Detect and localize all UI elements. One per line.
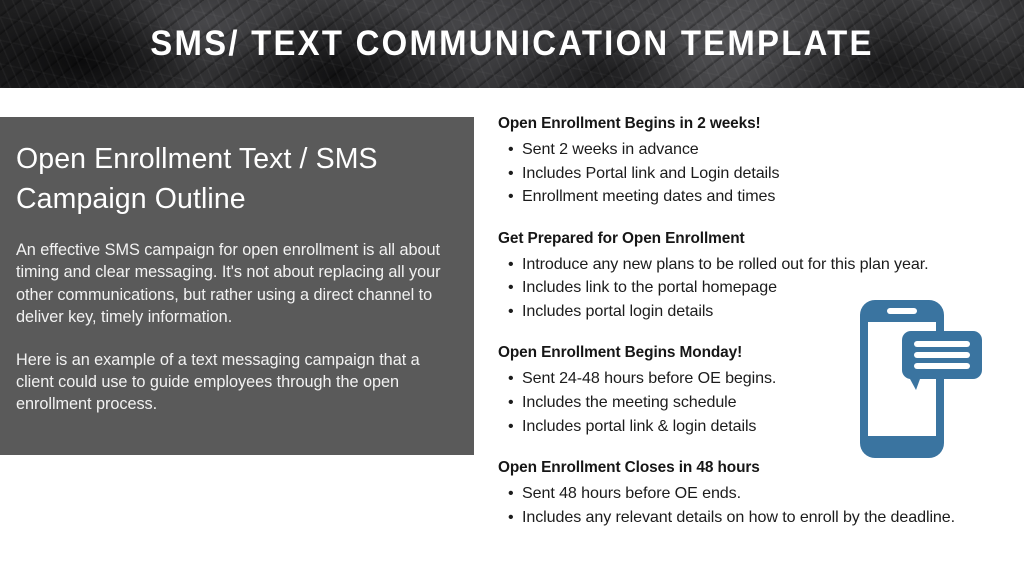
section-heading: Open Enrollment Closes in 48 hours	[498, 458, 1006, 478]
section-closes-48-hours: Open Enrollment Closes in 48 hours •Sent…	[498, 458, 1006, 529]
bullet-icon: •	[508, 185, 514, 208]
section-heading: Open Enrollment Begins in 2 weeks!	[498, 114, 1006, 134]
section-bullet-list: •Sent 2 weeks in advance •Includes Porta…	[498, 138, 1006, 209]
list-item-label: Includes link to the portal homepage	[522, 278, 777, 296]
list-item-label: Sent 24-48 hours before OE begins.	[522, 369, 776, 387]
bullet-icon: •	[508, 506, 514, 529]
list-item: •Sent 48 hours before OE ends.	[498, 482, 1006, 505]
panel-paragraph-intro: An effective SMS campaign for open enrol…	[16, 239, 452, 329]
phone-message-icon	[858, 298, 984, 460]
list-item: •Enrollment meeting dates and times	[498, 185, 1006, 208]
list-item-label: Introduce any new plans to be rolled out…	[522, 255, 928, 273]
panel-paragraph-example: Here is an example of a text messaging c…	[16, 349, 452, 416]
list-item: •Includes any relevant details on how to…	[498, 506, 1006, 529]
list-item: •Sent 2 weeks in advance	[498, 138, 1006, 161]
bullet-icon: •	[508, 391, 514, 414]
bullet-icon: •	[508, 138, 514, 161]
page-title: SMS/ TEXT COMMUNICATION TEMPLATE	[31, 22, 994, 66]
list-item-label: Includes portal login details	[522, 302, 713, 320]
bullet-icon: •	[508, 276, 514, 299]
campaign-outline-panel: Open Enrollment Text / SMS Campaign Outl…	[0, 117, 474, 455]
bullet-icon: •	[508, 253, 514, 276]
panel-title: Open Enrollment Text / SMS Campaign Outl…	[16, 139, 452, 219]
list-item-label: Enrollment meeting dates and times	[522, 187, 775, 205]
bullet-icon: •	[508, 162, 514, 185]
bullet-icon: •	[508, 367, 514, 390]
section-open-enrollment-2-weeks: Open Enrollment Begins in 2 weeks! •Sent…	[498, 114, 1006, 209]
bullet-icon: •	[508, 482, 514, 505]
list-item-label: Sent 48 hours before OE ends.	[522, 484, 741, 502]
bullet-icon: •	[508, 415, 514, 438]
list-item: •Includes link to the portal homepage	[498, 276, 1006, 299]
section-bullet-list: •Sent 48 hours before OE ends. •Includes…	[498, 482, 1006, 529]
list-item: •Includes Portal link and Login details	[498, 162, 1006, 185]
list-item-label: Includes portal link & login details	[522, 417, 756, 435]
list-item: •Introduce any new plans to be rolled ou…	[498, 253, 1006, 276]
list-item-label: Sent 2 weeks in advance	[522, 140, 699, 158]
section-heading: Get Prepared for Open Enrollment	[498, 229, 1006, 249]
list-item-label: Includes the meeting schedule	[522, 393, 737, 411]
list-item-label: Includes Portal link and Login details	[522, 164, 779, 182]
list-item-label: Includes any relevant details on how to …	[522, 508, 955, 526]
header-banner: SMS/ TEXT COMMUNICATION TEMPLATE	[0, 0, 1024, 88]
bullet-icon: •	[508, 300, 514, 323]
